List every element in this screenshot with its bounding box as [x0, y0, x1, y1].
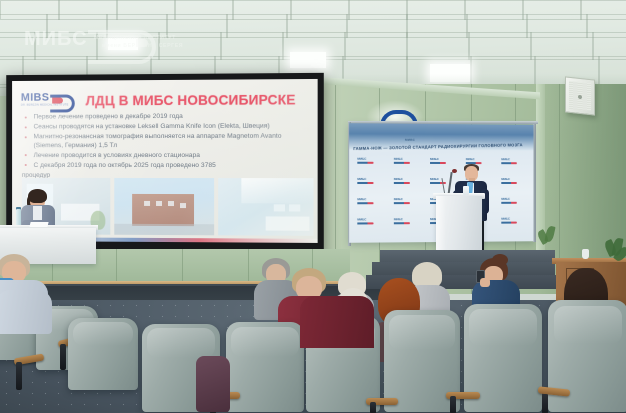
banner-logo-mark: МИБС: [394, 198, 412, 205]
bullet-dot-icon: [25, 126, 27, 128]
stage-step-2: [372, 262, 555, 275]
paper-sheet: [29, 222, 48, 227]
wall-logo-text: МИБС: [24, 28, 88, 50]
banner-subtitle: МИБС: [405, 138, 415, 142]
projection-screen: MIBS DR. BEREZIN MEDICAL INSTITUTE ЛДЦ В…: [12, 79, 318, 243]
water-glass: [463, 186, 469, 195]
slide-mibs-logo: MIBS DR. BEREZIN MEDICAL INSTITUTE: [21, 93, 72, 111]
banner-logo-mark: МИБС: [501, 198, 519, 205]
banner-logo-mark: МИБС: [430, 178, 448, 185]
slide-photo-corridor: [218, 178, 313, 236]
chair-arm-post: [16, 362, 22, 390]
slide-title: ЛДЦ В МИБС НОВОСИБИРСКЕ: [86, 92, 313, 108]
slide-photo-building: [114, 178, 214, 235]
bullet-dot-icon: [25, 164, 27, 166]
vase: [582, 249, 589, 259]
wall-logo-mibs: МИБС МЕДИЦИНСКИЙ ИНСТИТУТ имени БЕРЕЗИНА…: [24, 28, 194, 62]
banner-logo-mark: МИБС: [501, 158, 519, 165]
wall-speaker-icon: [565, 76, 595, 115]
wall-logo-dot-icon: [136, 39, 148, 47]
slide-bullet-item: Сеансы проводятся на установке Leksell G…: [22, 123, 314, 132]
plant-left: [539, 226, 557, 252]
water-bottle: [16, 209, 21, 226]
banner-logo-mark: МИБС: [501, 218, 519, 225]
lectern-highlight: [436, 196, 446, 258]
moderator-hair: [28, 189, 47, 203]
banner-logo-mark: МИБС: [430, 158, 448, 165]
banner-logo-mark: МИБС: [357, 218, 375, 225]
ceiling-light: [290, 52, 326, 68]
chair-arm-post: [370, 402, 376, 413]
banner-logo-mark: МИБС: [394, 158, 412, 165]
auditorium-chair[interactable]: [68, 318, 138, 390]
moderator-shirt: [33, 206, 42, 220]
bullet-text: Магнитно-резонансная томография выполняе…: [34, 133, 282, 149]
chair-arm-post: [450, 396, 456, 413]
bullet-dot-icon: [25, 116, 27, 118]
bullet-text: Лечение проводится в условиях дневного с…: [34, 152, 200, 159]
slide-bullet-item: Лечение проводится в условиях дневного с…: [22, 152, 314, 161]
banner-logo-mark: МИБС: [394, 178, 412, 185]
banner-logo-mark: МИБС: [357, 198, 375, 205]
stage-step-1: [380, 250, 555, 262]
microphone-icon: [452, 169, 457, 173]
slide-bullet-list: Первое лечение проведено в декабре 2019 …: [22, 112, 314, 180]
banner-logo-mark: МИБС: [394, 218, 412, 225]
bullet-text: С декабря 2019 года по октябрь 2025 года…: [34, 162, 216, 169]
banner-logo-mark: МИБС: [357, 158, 375, 165]
slide-bullet-item: Первое лечение проведено в декабре 2019 …: [22, 112, 314, 122]
bullet-text: Первое лечение проведено в декабре 2019 …: [34, 113, 183, 121]
slide-bullet-item: Магнитно-резонансная томография выполняе…: [22, 133, 314, 151]
bullet-dot-icon: [25, 154, 27, 156]
slide-logo-mark: MIBS: [21, 93, 49, 104]
bullet-text: Сеансы проводятся на установке Leksell G…: [34, 123, 270, 131]
banner-logo-mark: МИБС: [501, 178, 519, 185]
draped-coat: [196, 356, 230, 412]
slide-bullet-item: С декабря 2019 года по октябрь 2025 года…: [22, 162, 314, 171]
bullet-dot-icon: [25, 136, 27, 138]
chair-arm-post: [60, 344, 66, 370]
banner-logo-mark: МИБС: [357, 178, 375, 185]
conference-hall-photo: МИБС МЕДИЦИНСКИЙ ИНСТИТУТ имени БЕРЕЗИНА…: [0, 0, 626, 413]
wall-logo-arc-icon: [88, 30, 156, 64]
slide-logo-accent-icon: [52, 98, 63, 104]
plant-right: [604, 238, 626, 272]
chair-arm-post: [542, 394, 548, 413]
